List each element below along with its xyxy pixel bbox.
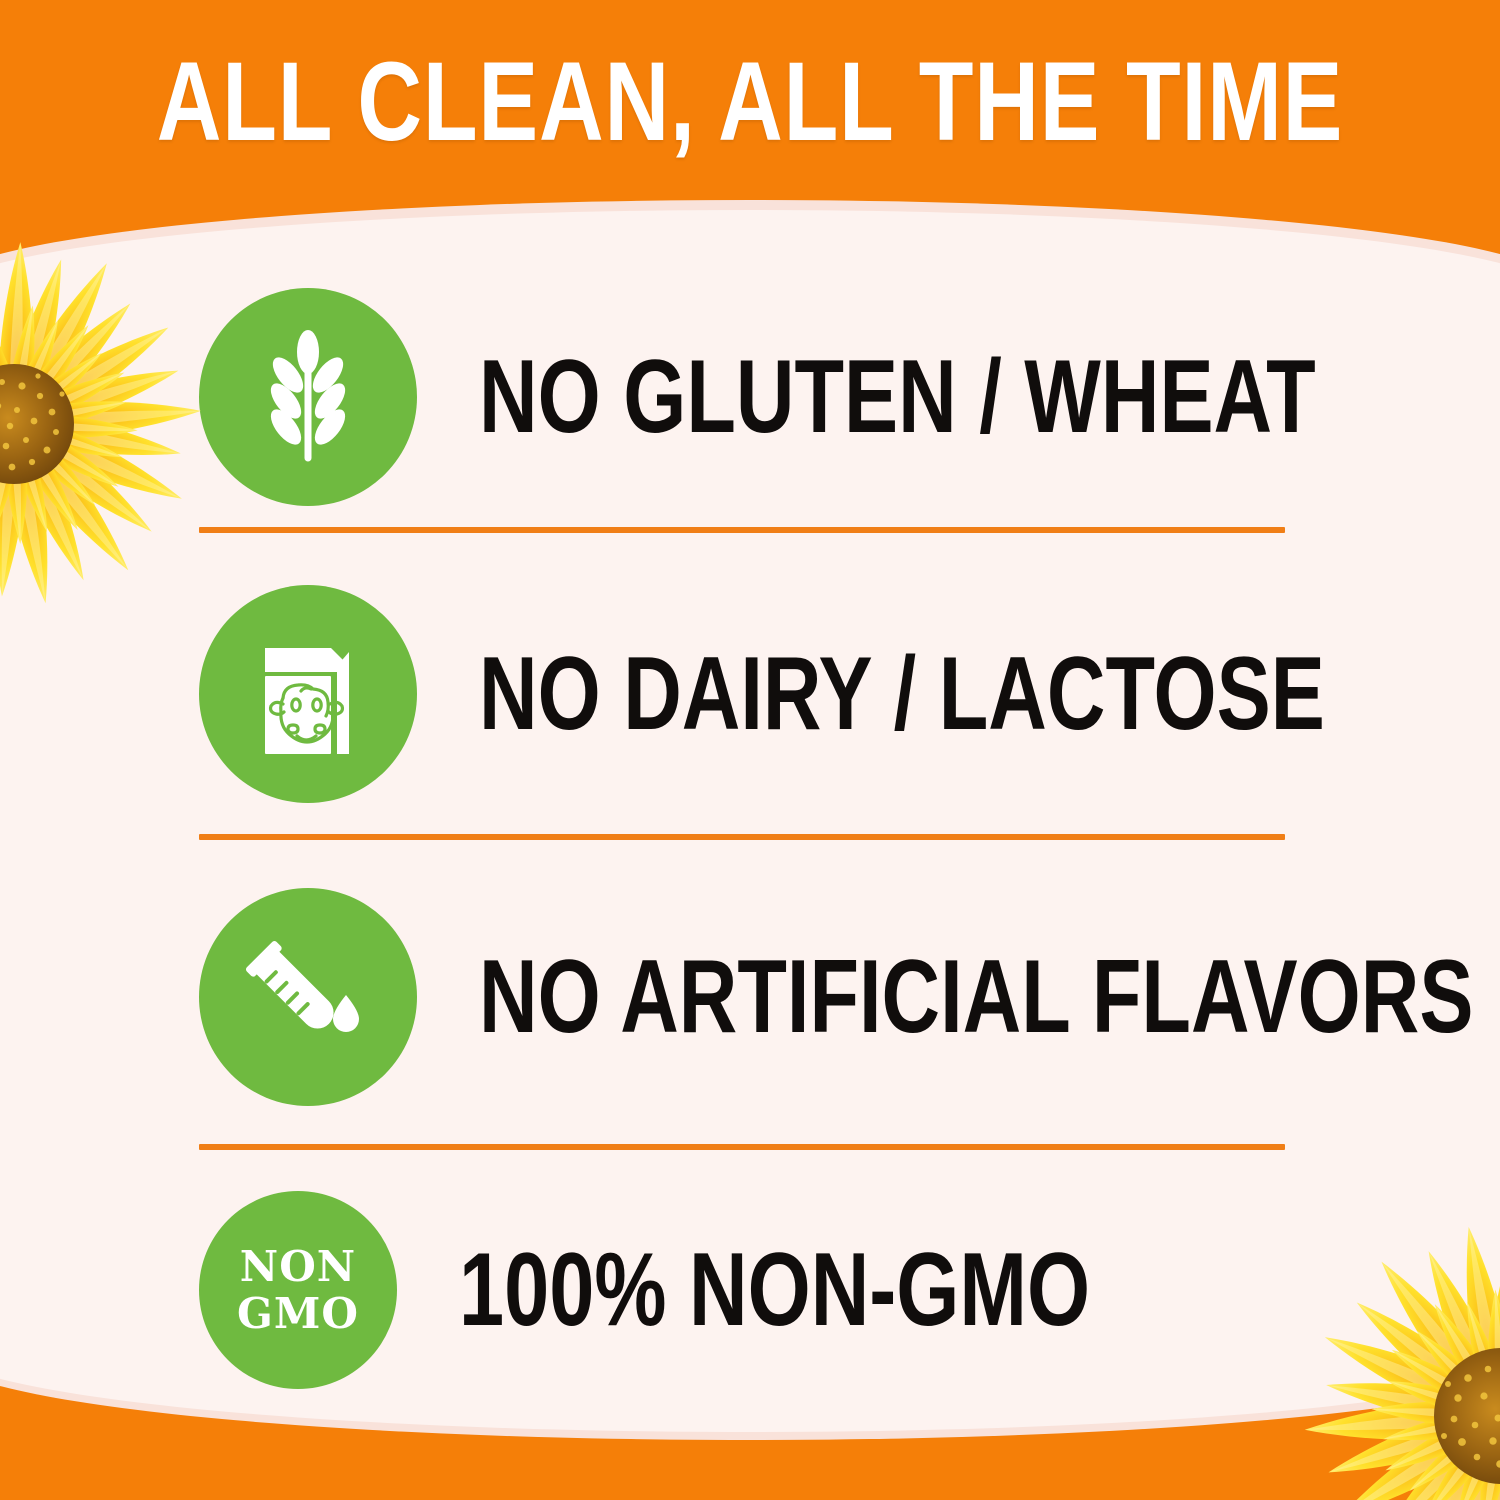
claim-row-dairy: NO DAIRY / LACTOSE xyxy=(199,585,1289,803)
claims-list: NO GLUTEN / WHEAT xyxy=(0,0,1500,1500)
non-gmo-line-2: GMO xyxy=(237,1293,359,1335)
claim-row-flavors: NO ARTIFICIAL FLAVORS xyxy=(199,888,1289,1106)
wheat-stalk-icon xyxy=(199,288,417,506)
claim-label-nongmo: 100% NON-GMO xyxy=(459,1238,1090,1342)
claim-row-nongmo: NON GMO 100% NON-GMO xyxy=(199,1190,1289,1390)
non-gmo-badge-text: NON GMO xyxy=(237,1246,359,1335)
claim-label-gluten: NO GLUTEN / WHEAT xyxy=(479,345,1316,449)
non-gmo-badge-icon: NON GMO xyxy=(199,1191,397,1389)
milk-carton-cow-icon xyxy=(199,585,417,803)
test-tube-droplet-icon xyxy=(199,888,417,1106)
claim-label-flavors: NO ARTIFICIAL FLAVORS xyxy=(479,945,1473,1049)
claim-row-gluten: NO GLUTEN / WHEAT xyxy=(199,288,1289,506)
claim-label-dairy: NO DAIRY / LACTOSE xyxy=(479,642,1325,746)
non-gmo-line-1: NON xyxy=(240,1242,356,1291)
product-claims-poster: ALL CLEAN, ALL THE TIME xyxy=(0,0,1500,1500)
